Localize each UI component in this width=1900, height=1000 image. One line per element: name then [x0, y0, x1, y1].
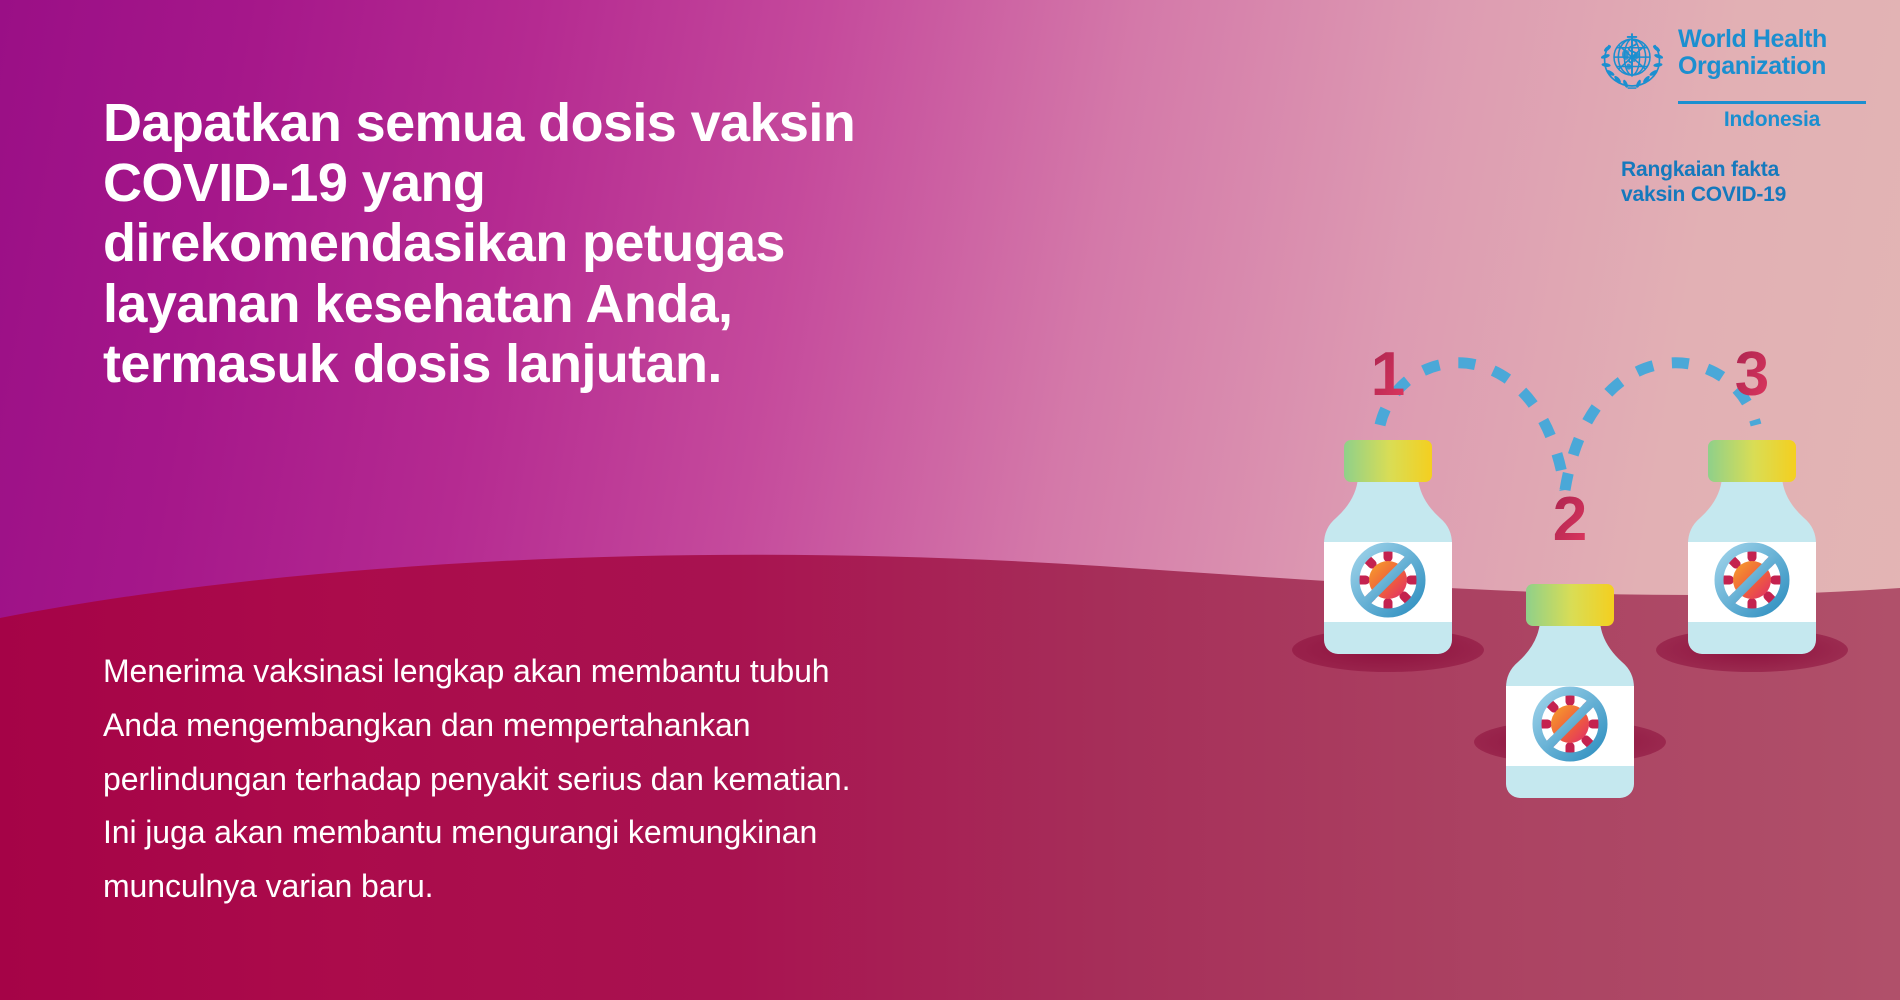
vial-3: 3: [1656, 340, 1848, 672]
who-wordmark-line1: World Health: [1678, 26, 1827, 53]
who-wordmark: World Health Organization: [1678, 24, 1827, 79]
who-country-label: Indonesia: [1678, 108, 1866, 132]
headline: Dapatkan semua dosis vaksin COVID-19 yan…: [103, 93, 1113, 394]
fact-series-label: Rangkaian fakta vaksin COVID-19: [1621, 157, 1886, 207]
vial-1: 1: [1292, 340, 1484, 672]
poster-canvas: Dapatkan semua dosis vaksin COVID-19 yan…: [0, 0, 1900, 1000]
vial-2-number: 2: [1553, 485, 1587, 554]
who-wordmark-line2: Organization: [1678, 53, 1827, 80]
vial-2-cap: [1526, 584, 1614, 626]
who-divider-rule: [1678, 101, 1866, 104]
vial-3-no-virus-icon: [1717, 545, 1787, 615]
who-logo-block: World Health Organization Indonesia Rang…: [1596, 24, 1886, 207]
vial-2: 2: [1474, 485, 1666, 798]
vial-3-number: 3: [1735, 340, 1769, 409]
vial-1-cap: [1344, 440, 1432, 482]
vial-1-no-virus-icon: [1353, 545, 1423, 615]
vial-3-cap: [1708, 440, 1796, 482]
vaccine-vials-illustration: 1 2 3: [1240, 330, 1900, 950]
dose-sequence-arc: [1380, 363, 1756, 490]
vial-2-no-virus-icon: [1535, 689, 1605, 759]
vial-1-number: 1: [1371, 340, 1405, 409]
who-emblem-icon: [1596, 24, 1668, 96]
body-text: Menerima vaksinasi lengkap akan membantu…: [103, 645, 1153, 914]
who-logo-row: World Health Organization: [1596, 24, 1886, 96]
